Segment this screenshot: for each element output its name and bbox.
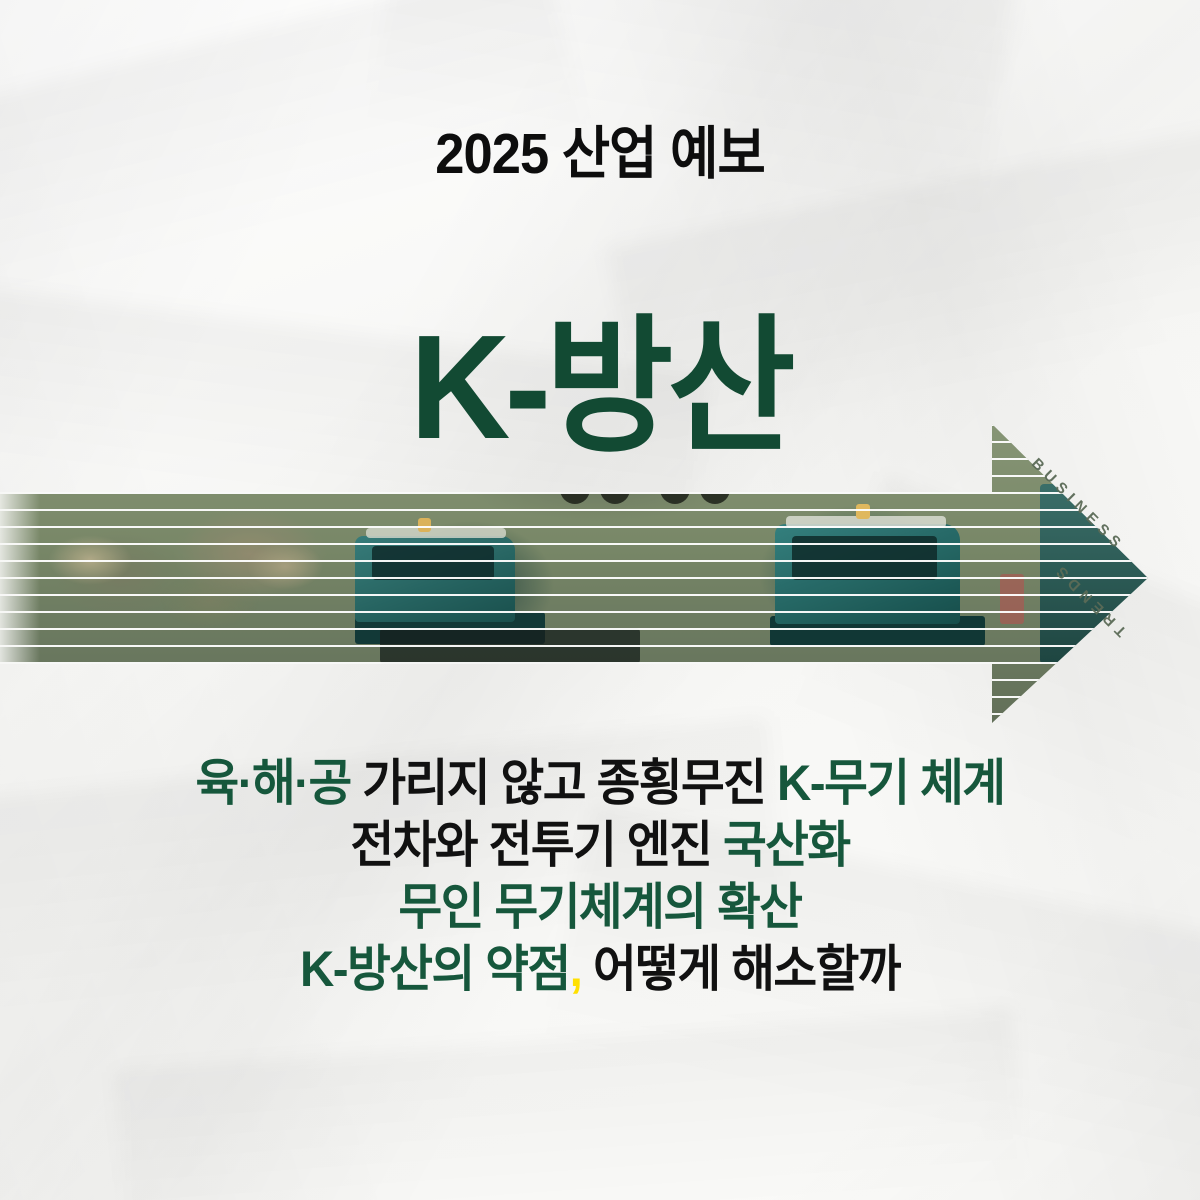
arrow-clip <box>0 424 1200 724</box>
scanline-overlay <box>0 424 1200 724</box>
bullet-2-seg-2: 국산화 <box>723 817 850 873</box>
bullet-3-seg-1: 무인 무기체계의 확산 <box>399 879 802 935</box>
bullet-line-3: 무인 무기체계의 확산 <box>30 876 1170 938</box>
card-news-slide: 2025 산업 예보 K-방산 <box>0 0 1200 1200</box>
background-vehicle <box>540 446 750 490</box>
bullet-line-2: 전차와 전투기 엔진 국산화 <box>30 814 1170 876</box>
bullet-4-comma: , <box>570 941 582 997</box>
photo-arrow-band <box>0 424 1200 724</box>
series-eyebrow: 2025 산업 예보 <box>48 108 1152 190</box>
bullet-line-4: K-방산의 약점, 어떻게 해소할까 <box>30 938 1170 1000</box>
bullet-1-seg-1: 육·해·공 <box>196 755 351 811</box>
bullet-line-1: 육·해·공 가리지 않고 종횡무진 K-무기 체계 <box>30 752 1170 814</box>
band-left-fade <box>0 424 40 724</box>
bullet-1-seg-3: K-무기 체계 <box>777 755 1004 811</box>
bullet-4-seg-3: 어떻게 해소할까 <box>581 941 900 997</box>
bullet-4-seg-1: K-방산의 약점 <box>300 941 570 997</box>
bullet-1-seg-2: 가리지 않고 종횡무진 <box>351 755 777 811</box>
bullet-2-seg-1: 전차와 전투기 엔진 <box>350 817 722 873</box>
bullet-list: 육·해·공 가리지 않고 종횡무진 K-무기 체계 전차와 전투기 엔진 국산화… <box>0 752 1200 1000</box>
